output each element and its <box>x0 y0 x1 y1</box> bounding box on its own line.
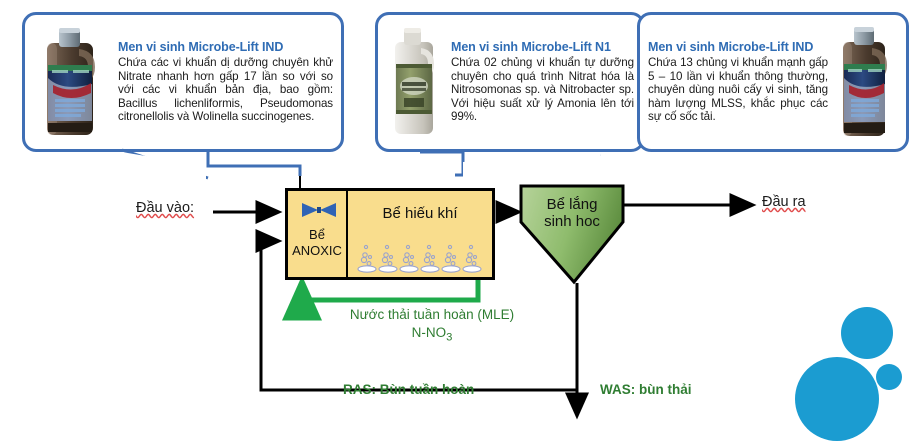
was-label-prefix: WAS: <box>600 382 639 397</box>
decor-circle-large <box>795 357 879 441</box>
recirculation-sublabel: N-NO3 <box>302 325 562 344</box>
anoxic-tank-label-line2: ANOXIC <box>288 243 346 258</box>
recirculation-label-main: Nước thải tuần hoàn (MLE) <box>350 307 514 322</box>
anoxic-tank-label-line1: Bể <box>288 227 346 242</box>
clarifier-label: Bể lắng sinh hoc <box>521 196 623 230</box>
aerobic-tank: Bể hiếu khí <box>347 188 495 280</box>
ras-label-prefix: RAS: <box>343 382 380 397</box>
valve-icon <box>300 201 338 224</box>
clarifier-label-line1: Bể lắng <box>521 196 623 213</box>
inlet-label: Đầu vào: <box>136 200 194 216</box>
was-label: WAS: bùn thải <box>600 382 692 397</box>
diagram-canvas: Men vi sinh Microbe-Lift IND Chứa các vi… <box>0 0 922 423</box>
recirculation-sublabel-main: N-NO <box>412 325 447 340</box>
outlet-label: Đầu ra <box>762 194 806 210</box>
was-label-text: bùn thải <box>639 382 692 397</box>
ras-label-text: Bùn tuần hoàn <box>380 382 475 397</box>
decor-circle-small <box>876 364 902 390</box>
recirculation-label: Nước thải tuần hoàn (MLE) <box>302 307 562 322</box>
clarifier-label-line2: sinh hoc <box>521 213 623 230</box>
diffuser-row <box>356 238 484 274</box>
aerobic-tank-label: Bể hiếu khí <box>348 205 492 222</box>
ras-label: RAS: Bùn tuần hoàn <box>343 382 474 397</box>
recirculation-sublabel-sub: 3 <box>446 332 452 344</box>
anoxic-tank: Bể ANOXIC <box>285 188 347 280</box>
decor-circle-medium <box>841 307 893 359</box>
